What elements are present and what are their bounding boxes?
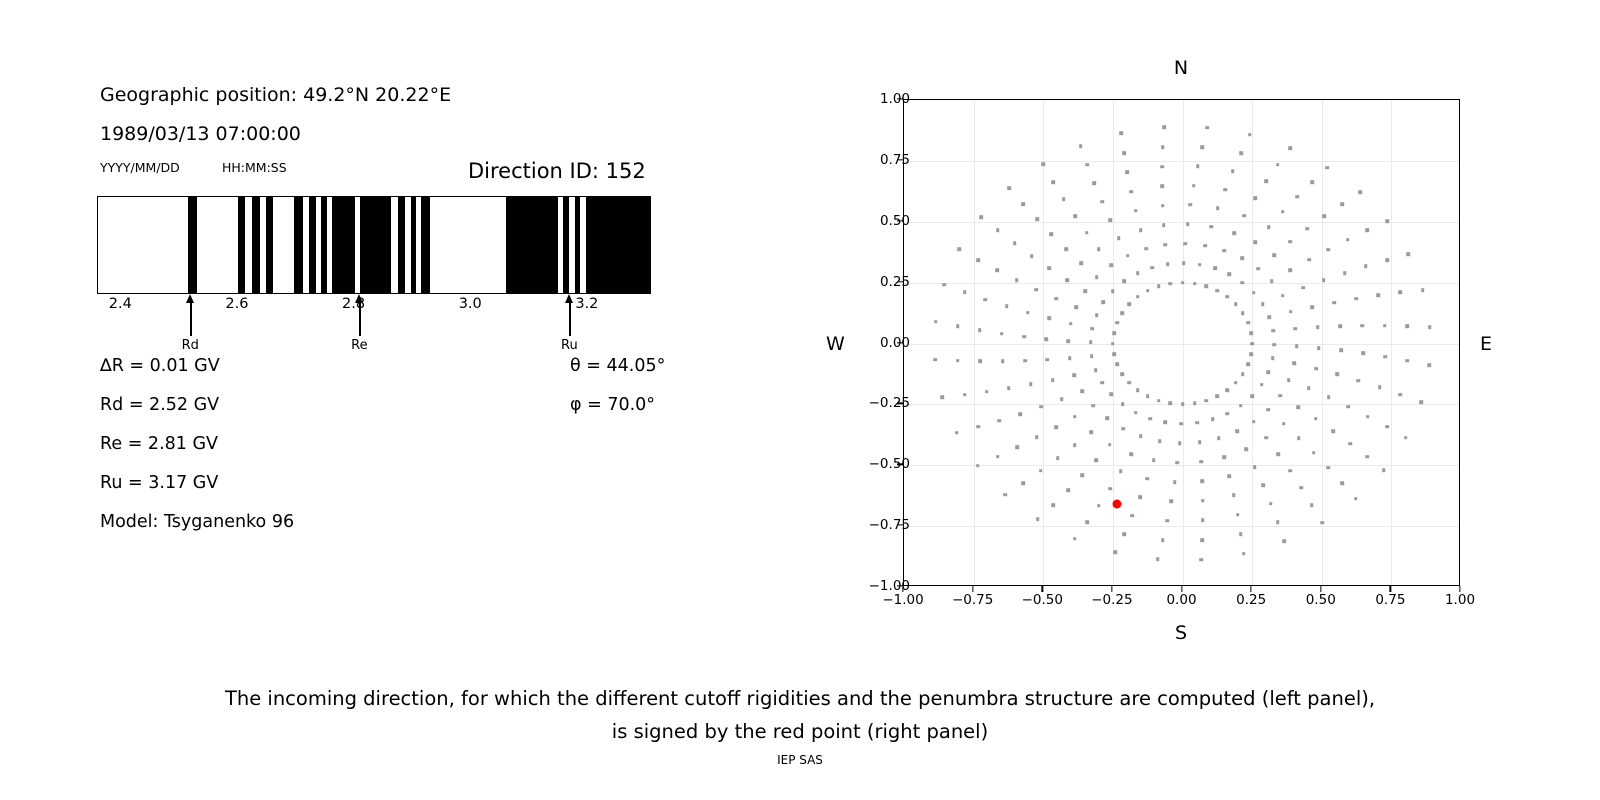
direction-dot: [1139, 228, 1143, 232]
direction-dot: [1126, 254, 1130, 258]
direction-dot: [1239, 404, 1243, 408]
direction-dot: [1287, 378, 1291, 382]
scatter-ytick-mark: [897, 524, 903, 525]
direction-dot: [1093, 182, 1097, 186]
direction-dot: [1361, 324, 1365, 328]
direction-dot: [1136, 388, 1140, 392]
direction-dot: [1269, 502, 1273, 506]
direction-dot: [1289, 240, 1293, 244]
direction-dot: [1182, 261, 1186, 265]
direction-dot: [1365, 455, 1369, 459]
direction-dot: [1090, 355, 1094, 359]
param-delta-r: ∆R = 0.01 GV: [100, 356, 220, 376]
direction-dot: [1095, 276, 1099, 280]
direction-dot: [1427, 363, 1431, 367]
scatter-xtick-label: 0.00: [1166, 592, 1196, 608]
direction-dot: [1407, 253, 1411, 257]
date-format-hint: YYYY/MM/DD: [100, 160, 180, 175]
penumbra-forbidden-band: [266, 197, 273, 293]
direction-id-text: Direction ID: 152: [468, 159, 646, 183]
direction-dot: [956, 359, 960, 363]
rigidity-marker-re: [359, 294, 360, 336]
param-theta: θ = 44.05°: [570, 356, 665, 376]
direction-dot: [1357, 379, 1361, 383]
direction-dot: [934, 358, 938, 362]
direction-dot: [1320, 521, 1324, 525]
direction-dot: [1201, 519, 1205, 523]
direction-dot: [1196, 164, 1200, 168]
compass-label-east: E: [1480, 333, 1492, 355]
direction-dot: [1239, 151, 1243, 155]
scatter-xtick-mark: [1320, 586, 1321, 592]
direction-dot: [1277, 452, 1281, 456]
direction-dot: [1231, 169, 1235, 173]
direction-dot: [1189, 203, 1193, 207]
direction-dot: [1134, 209, 1138, 213]
direction-dot: [1385, 258, 1389, 262]
scatter-xtick-mark: [1390, 586, 1391, 592]
direction-dot: [1148, 417, 1152, 421]
direction-dot: [1216, 289, 1220, 293]
penumbra-forbidden-band: [506, 197, 557, 293]
direction-dot: [1205, 126, 1209, 130]
direction-dot: [1256, 267, 1260, 271]
direction-dot: [1016, 445, 1020, 449]
direction-dot: [1378, 386, 1382, 390]
direction-dot: [1035, 436, 1039, 440]
rigidity-marker-label: Rd: [182, 338, 199, 353]
arrow-shaft: [359, 301, 360, 336]
direction-dot: [984, 298, 988, 302]
penumbra-xtick-label: 3.0: [459, 296, 482, 312]
direction-dot: [1115, 363, 1119, 367]
direction-dot: [1186, 222, 1190, 226]
direction-dot: [1001, 359, 1005, 363]
direction-dot: [1091, 404, 1095, 408]
gridline-horizontal: [904, 222, 1459, 223]
direction-dot: [1198, 440, 1202, 444]
scatter-xtick-label: 0.50: [1306, 592, 1336, 608]
direction-dot: [1272, 253, 1276, 257]
direction-dot: [1069, 322, 1073, 326]
direction-dot: [1145, 477, 1149, 481]
direction-dot: [976, 425, 980, 429]
param-ru: Ru = 3.17 GV: [100, 473, 218, 493]
param-rd: Rd = 2.52 GV: [100, 395, 219, 415]
direction-dot: [1248, 133, 1252, 137]
direction-dot: [1266, 408, 1270, 412]
direction-dot: [1382, 468, 1386, 472]
direction-dot: [1201, 499, 1205, 503]
direction-dot: [1305, 227, 1309, 231]
direction-dot: [1162, 224, 1166, 228]
direction-dot: [1121, 403, 1125, 407]
direction-dot: [1327, 396, 1331, 400]
direction-dot: [1146, 289, 1150, 293]
direction-dot: [1347, 405, 1351, 409]
direction-dot: [1240, 257, 1244, 261]
direction-dot: [1270, 279, 1274, 283]
direction-dot: [1325, 166, 1329, 170]
direction-dot: [1311, 305, 1315, 309]
scatter-xtick-mark: [972, 586, 973, 592]
direction-dot: [1123, 280, 1127, 284]
direction-dot: [942, 283, 946, 287]
direction-dot: [1200, 479, 1204, 483]
direction-dot: [976, 464, 980, 468]
direction-dot: [979, 215, 983, 219]
gridline-vertical: [1322, 100, 1323, 585]
direction-dot: [1288, 146, 1292, 150]
direction-dot: [1119, 470, 1123, 474]
scatter-ytick-label: 1.00: [880, 91, 910, 107]
direction-dot: [1405, 325, 1409, 329]
param-phi: φ = 70.0°: [570, 395, 655, 415]
penumbra-xtick-label: 2.4: [109, 296, 132, 312]
direction-dot: [1079, 144, 1083, 148]
compass-label-south: S: [1175, 622, 1187, 644]
direction-dot: [1073, 537, 1077, 541]
direction-dot: [1095, 313, 1099, 317]
direction-dot: [1323, 214, 1327, 218]
direction-dot: [1000, 332, 1004, 336]
penumbra-axis: 2.42.62.83.03.2RdReRu: [97, 294, 651, 350]
direction-dot: [1073, 214, 1077, 218]
direction-dot: [1080, 262, 1084, 266]
direction-dot: [1150, 266, 1154, 270]
direction-dot: [1051, 180, 1055, 184]
direction-dot: [1253, 241, 1257, 245]
direction-dot: [1294, 327, 1298, 331]
direction-dot: [1326, 466, 1330, 470]
direction-dot: [1083, 290, 1087, 294]
direction-dot: [1112, 331, 1116, 335]
direction-dot: [1419, 400, 1423, 404]
direction-dot: [1130, 190, 1134, 194]
direction-dot: [1322, 278, 1326, 282]
direction-dot: [1295, 344, 1299, 348]
direction-dot: [1316, 325, 1320, 329]
direction-dot: [1216, 206, 1220, 210]
direction-dot: [1089, 341, 1093, 345]
direction-dot: [1161, 165, 1165, 169]
direction-dot: [1232, 231, 1236, 235]
scatter-ytick-mark: [897, 159, 903, 160]
direction-dot: [1267, 315, 1271, 319]
gridline-vertical: [1043, 100, 1044, 585]
direction-dot: [1162, 126, 1166, 130]
direction-dot: [940, 395, 944, 399]
direction-dot: [1252, 291, 1256, 295]
direction-dot: [1264, 436, 1268, 440]
direction-dot: [1169, 402, 1173, 406]
direction-dot: [1246, 321, 1250, 325]
direction-dot: [1080, 389, 1084, 393]
direction-dot: [955, 431, 959, 435]
gridline-horizontal: [904, 465, 1459, 466]
direction-dot: [1253, 465, 1257, 469]
direction-dot: [1074, 305, 1078, 309]
scatter-xtick-mark: [1111, 586, 1112, 592]
direction-dot: [1428, 326, 1432, 330]
rigidity-marker-rd: [190, 294, 191, 336]
time-format-hint: HH:MM:SS: [222, 160, 287, 175]
figure-caption: The incoming direction, for which the di…: [0, 682, 1600, 748]
direction-dot: [1346, 238, 1350, 242]
direction-dot: [1405, 359, 1409, 363]
penumbra-forbidden-band: [238, 197, 245, 293]
direction-dot: [1176, 461, 1180, 465]
direction-dot: [1152, 458, 1156, 462]
direction-dot: [1115, 321, 1119, 325]
direction-dot: [963, 291, 967, 295]
direction-dot: [1161, 204, 1165, 208]
scatter-ytick-mark: [897, 281, 903, 282]
direction-dot: [1228, 273, 1232, 277]
direction-dot: [1293, 361, 1297, 365]
direction-dot: [1281, 294, 1285, 298]
direction-dot: [1246, 363, 1250, 367]
scatter-xtick-mark: [1181, 586, 1182, 592]
scatter-xtick-label: −0.25: [1091, 592, 1132, 608]
footer-text: IEP SAS: [0, 753, 1600, 767]
direction-dot: [1081, 474, 1085, 478]
direction-dot: [1130, 514, 1134, 518]
direction-dot: [1065, 278, 1069, 282]
direction-dot: [1021, 202, 1025, 206]
direction-dot: [1173, 480, 1177, 484]
direction-dot: [996, 229, 1000, 233]
direction-dot: [1312, 451, 1316, 455]
direction-dot: [1282, 422, 1286, 426]
direction-dot: [1164, 421, 1168, 425]
rigidity-marker-label: Ru: [561, 338, 578, 353]
direction-dot: [1349, 442, 1353, 446]
direction-dot: [1317, 346, 1321, 350]
direction-dot: [996, 455, 1000, 459]
direction-dot: [1003, 493, 1007, 497]
direction-dot: [1267, 225, 1271, 229]
direction-dot: [1068, 357, 1072, 361]
direction-dot: [1166, 262, 1170, 266]
selected-direction-point[interactable]: [1113, 500, 1122, 509]
direction-dot: [1121, 427, 1125, 431]
direction-dot: [1354, 297, 1358, 301]
scatter-xtick-mark: [902, 586, 903, 592]
direction-dot: [1332, 429, 1336, 433]
direction-dot: [1241, 311, 1245, 315]
direction-dot: [1261, 302, 1265, 306]
direction-dot: [1276, 163, 1280, 167]
direction-dot: [1085, 520, 1089, 524]
direction-dot: [1283, 539, 1287, 543]
direction-dot: [1102, 301, 1106, 305]
direction-dot: [1036, 518, 1040, 522]
rigidity-marker-label: Re: [351, 338, 367, 353]
direction-dot: [1039, 469, 1043, 473]
direction-dot: [1225, 388, 1229, 392]
direction-dot: [1421, 288, 1425, 292]
direction-dot: [1386, 220, 1390, 224]
datetime-text: 1989/03/13 07:00:00: [100, 123, 301, 145]
direction-dot: [1399, 393, 1403, 397]
direction-dot: [1056, 456, 1060, 460]
direction-dot: [1023, 359, 1027, 363]
direction-dot: [1242, 214, 1246, 218]
direction-dot: [1041, 163, 1045, 167]
penumbra-forbidden-band: [294, 197, 303, 293]
direction-dot: [1164, 243, 1168, 247]
direction-dot: [1216, 394, 1220, 398]
gridline-vertical: [974, 100, 975, 585]
direction-dot: [1085, 231, 1089, 235]
direction-dot: [1343, 271, 1347, 275]
direction-dot: [1008, 187, 1012, 191]
penumbra-forbidden-band: [421, 197, 430, 293]
direction-dot: [1034, 288, 1038, 292]
penumbra-forbidden-band: [563, 197, 569, 293]
arrow-shaft: [190, 301, 191, 336]
direction-dot: [1122, 151, 1126, 155]
param-re: Re = 2.81 GV: [100, 434, 218, 454]
penumbra-forbidden-band: [332, 197, 354, 293]
scatter-ytick-label: 0.75: [880, 152, 910, 168]
direction-dot: [1296, 405, 1300, 409]
direction-dot: [1340, 481, 1344, 485]
direction-dot: [995, 269, 999, 273]
direction-dot: [1273, 343, 1277, 347]
direction-dot: [1310, 180, 1314, 184]
direction-dot: [1264, 180, 1268, 184]
direction-dot: [1117, 236, 1121, 240]
direction-dot: [1193, 282, 1197, 286]
direction-dot: [1112, 352, 1116, 356]
direction-dot: [1111, 289, 1115, 293]
direction-dot: [1064, 247, 1068, 251]
direction-dot: [1250, 342, 1254, 346]
direction-dot: [1136, 295, 1140, 299]
direction-dot: [1310, 503, 1314, 507]
direction-dot: [1205, 399, 1209, 403]
direction-dot: [1144, 247, 1148, 251]
direction-dot: [1338, 324, 1342, 328]
direction-dot: [1015, 278, 1019, 282]
direction-dot: [1281, 210, 1285, 214]
direction-dot: [1100, 200, 1104, 204]
direction-dot: [1288, 268, 1292, 272]
direction-dot: [1249, 352, 1253, 356]
direction-dot: [1261, 483, 1265, 487]
direction-dot: [985, 390, 989, 394]
direction-dot: [1073, 415, 1077, 419]
scatter-ytick-mark: [897, 342, 903, 343]
direction-dot: [956, 324, 960, 328]
direction-dot: [1376, 294, 1380, 298]
direction-dot: [1046, 358, 1050, 362]
direction-dot: [1139, 435, 1143, 439]
direction-dot: [1222, 249, 1226, 253]
scatter-xtick-label: −0.75: [952, 592, 993, 608]
direction-dot: [1217, 436, 1221, 440]
direction-dot: [1110, 264, 1114, 268]
direction-dot: [1039, 405, 1043, 409]
direction-dot: [1366, 229, 1370, 233]
direction-dot: [1095, 458, 1099, 462]
scatter-ytick-label: −0.25: [869, 395, 910, 411]
direction-dot: [1260, 383, 1264, 387]
direction-dot: [1211, 418, 1215, 422]
scatter-ytick-label: 0.25: [880, 274, 910, 290]
penumbra-forbidden-band: [398, 197, 405, 293]
direction-dot: [1158, 440, 1162, 444]
gridline-vertical: [1391, 100, 1392, 585]
direction-dot: [1134, 411, 1138, 415]
direction-dot: [1223, 188, 1227, 192]
direction-dot: [1288, 469, 1292, 473]
direction-dot: [1289, 310, 1293, 314]
direction-dot: [1385, 425, 1389, 429]
direction-dot: [1205, 284, 1209, 288]
arrow-shaft: [569, 301, 570, 336]
direction-dot: [1252, 420, 1256, 424]
caption-line-1: The incoming direction, for which the di…: [0, 682, 1600, 715]
direction-dot: [1339, 349, 1343, 353]
direction-dot: [1358, 190, 1362, 194]
direction-dot: [1180, 422, 1184, 426]
direction-dot: [1108, 487, 1112, 491]
direction-dot: [1160, 184, 1164, 188]
direction-dot: [1241, 372, 1245, 376]
scatter-ytick-mark: [897, 220, 903, 221]
rigidity-marker-ru: [569, 294, 570, 336]
scatter-ytick-label: −0.75: [869, 517, 910, 533]
penumbra-forbidden-band: [575, 197, 580, 293]
geographic-position-text: Geographic position: 49.2°N 20.22°E: [100, 84, 451, 106]
direction-dot: [998, 419, 1002, 423]
direction-dot: [1169, 500, 1173, 504]
direction-dot: [1209, 225, 1213, 229]
penumbra-forbidden-band: [360, 197, 390, 293]
scatter-xtick-label: 1.00: [1445, 592, 1475, 608]
direction-dot: [1029, 383, 1033, 387]
direction-dot: [1072, 373, 1076, 377]
direction-dot: [1127, 381, 1131, 385]
direction-dot: [1223, 455, 1227, 459]
direction-dot: [1267, 370, 1271, 374]
direction-dot: [1169, 282, 1173, 286]
direction-dot: [1161, 538, 1165, 542]
direction-dot: [1122, 532, 1126, 536]
direction-dot: [1047, 317, 1051, 321]
direction-dot: [1120, 372, 1124, 376]
left-panel: Geographic position: 49.2°N 20.22°E 1989…: [0, 0, 760, 660]
direction-dot: [1066, 489, 1070, 493]
penumbra-forbidden-band: [411, 197, 417, 293]
direction-dot: [1165, 519, 1169, 523]
direction-dot: [1054, 297, 1058, 301]
gridline-horizontal: [904, 344, 1459, 345]
scatter-xtick-mark: [1459, 586, 1460, 592]
direction-dot: [1035, 218, 1039, 222]
direction-dot: [1299, 486, 1303, 490]
direction-dot: [1332, 301, 1336, 305]
direction-dot: [1120, 311, 1124, 315]
direction-dot: [1108, 443, 1112, 447]
direction-dot: [1225, 295, 1229, 299]
direction-scatter-plot: [903, 99, 1460, 586]
direction-dot: [1181, 281, 1185, 285]
direction-dot: [1178, 442, 1182, 446]
